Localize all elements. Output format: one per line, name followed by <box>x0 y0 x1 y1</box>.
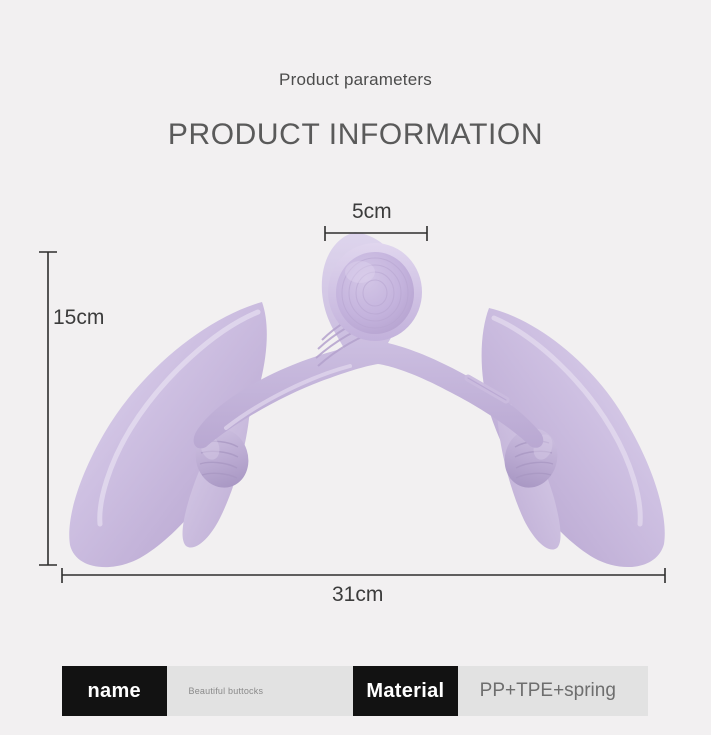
spec-value-name: Beautiful buttocks <box>167 666 354 716</box>
product-illustration <box>0 0 711 735</box>
left-inner-blade <box>183 402 250 548</box>
left-spring-roller <box>188 421 256 494</box>
spec-key-material: Material <box>353 666 458 716</box>
right-inner-blade <box>497 404 561 550</box>
right-spring-roller <box>497 421 565 494</box>
left-wing-pad <box>69 302 267 567</box>
product-figure-svg <box>0 0 711 735</box>
central-disc <box>328 243 422 341</box>
spec-value-material: PP+TPE+spring <box>458 666 648 716</box>
arm-slot <box>468 378 506 400</box>
dimension-lines <box>0 0 711 735</box>
dimension-label-height: 15cm <box>53 306 104 330</box>
central-arm-assembly <box>194 232 544 448</box>
page-title: PRODUCT INFORMATION <box>0 118 711 152</box>
spec-key-name: name <box>62 666 167 716</box>
spec-value-material-text: PP+TPE+spring <box>480 680 616 702</box>
spec-value-name-text: Beautiful buttocks <box>189 686 264 696</box>
dimension-label-width: 31cm <box>332 583 383 607</box>
product-information-page: Product parameters PRODUCT INFORMATION <box>0 0 711 735</box>
spec-table: name Beautiful buttocks Material PP+TPE+… <box>62 666 648 716</box>
disc-ring-texture <box>342 258 408 328</box>
arm-rib-texture <box>316 308 384 366</box>
right-wing-pad <box>482 308 665 567</box>
dimension-label-disc-width: 5cm <box>352 200 392 224</box>
page-subtitle: Product parameters <box>0 70 711 90</box>
